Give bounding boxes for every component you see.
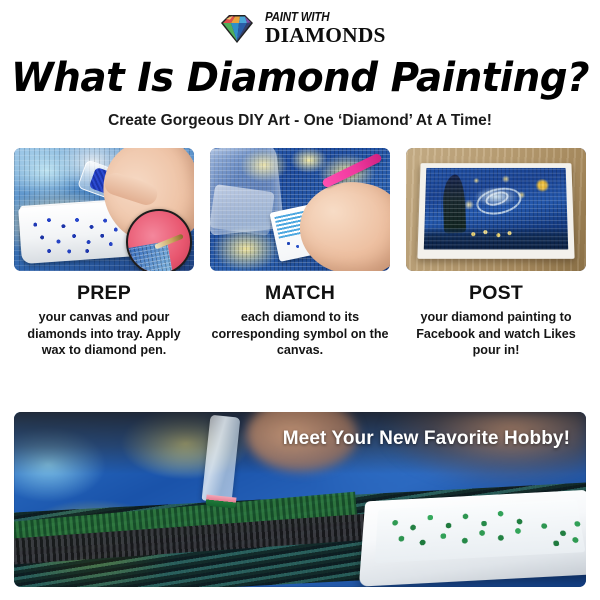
step-card-prep: PREP your canvas and pour diamonds into … <box>14 148 194 359</box>
step-title-post: POST <box>406 282 586 305</box>
step-title-match: MATCH <box>210 282 390 305</box>
step-body-post: your diamond painting to Facebook and wa… <box>406 309 586 359</box>
brand-wordmark: PAINT WITH DIAMONDS <box>265 11 383 46</box>
prep-photo <box>14 148 194 271</box>
promo-infographic: PAINT WITH DIAMONDS What Is Diamond Pain… <box>0 0 600 600</box>
banner-blurred-foreground <box>336 412 586 492</box>
prep-inset-pen <box>154 234 184 250</box>
match-photo <box>210 148 390 271</box>
post-starry-night-canvas <box>424 168 568 250</box>
post-finished-painting <box>417 163 574 259</box>
prep-closeup-inset <box>126 209 192 271</box>
post-photo <box>406 148 586 271</box>
brand-line-diamonds: DIAMONDS <box>265 25 386 46</box>
hobby-banner-photo: Meet Your New Favorite Hobby! <box>14 412 586 587</box>
step-card-match: MATCH each diamond to its corresponding … <box>210 148 390 359</box>
post-mosaic-texture <box>424 168 568 250</box>
page-subtitle: Create Gorgeous DIY Art - One ‘Diamond’ … <box>0 112 600 130</box>
banner-diamond-tray <box>359 490 586 587</box>
steps-row: PREP your canvas and pour diamonds into … <box>0 148 600 359</box>
page-title: What Is Diamond Painting? <box>9 58 591 98</box>
step-card-post: POST your diamond painting to Facebook a… <box>406 148 586 359</box>
prep-inset-mosaic <box>126 241 172 271</box>
step-body-match: each diamond to its corresponding symbol… <box>210 309 390 359</box>
step-title-prep: PREP <box>14 282 194 305</box>
step-body-prep: your canvas and pour diamonds into tray.… <box>14 309 194 359</box>
brand-logo[interactable]: PAINT WITH DIAMONDS <box>0 0 600 46</box>
banner-green-diamonds-scattered <box>535 514 586 552</box>
match-diamond-baggie-secondary <box>210 184 275 236</box>
diamond-gem-icon <box>217 12 257 46</box>
banner-headline: Meet Your New Favorite Hobby! <box>283 428 570 450</box>
